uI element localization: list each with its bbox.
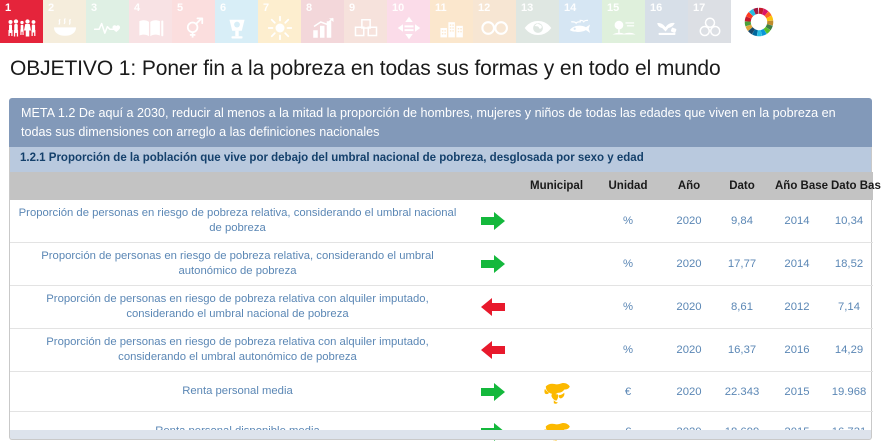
sdg-goal-tile-3[interactable]: 3	[86, 0, 129, 43]
ano-base-value: 2015	[769, 372, 825, 412]
column-header-ano-base: Año Base	[769, 172, 825, 200]
table-footer-bar	[9, 430, 872, 440]
ano-value: 2020	[663, 200, 715, 243]
sdg-goal-number: 11	[435, 2, 447, 14]
sdg-goal-number: 17	[693, 2, 705, 14]
unidad-value: %	[593, 329, 663, 372]
unidad-value: %	[593, 243, 663, 286]
column-header-trend	[465, 172, 520, 200]
municipal-cell-empty	[520, 243, 593, 286]
sdg-goal-number: 1	[5, 2, 11, 14]
sdg-goal-number: 5	[177, 2, 183, 14]
unidad-value: €	[593, 372, 663, 412]
sdg-goal-tile-13[interactable]: 13	[516, 0, 559, 43]
sdg-goal-tile-15[interactable]: 15	[602, 0, 645, 43]
indicator-name-link[interactable]: Proporción de personas en riesgo de pobr…	[10, 200, 465, 243]
column-header-municipal: Municipal	[520, 172, 593, 200]
arrow-left-red-icon	[465, 329, 520, 372]
sdg-goal-tile-14[interactable]: 14	[559, 0, 602, 43]
dato-base-value: 19.968	[825, 372, 873, 412]
infinity-loop-icon	[473, 15, 516, 41]
sdg-goal-tile-8[interactable]: 8	[301, 0, 344, 43]
indicator-name-link[interactable]: Renta personal media	[10, 372, 465, 412]
arrow-right-green-icon	[465, 372, 520, 412]
ano-base-value: 2014	[769, 200, 825, 243]
ano-base-value: 2014	[769, 243, 825, 286]
page-title: OBJETIVO 1: Poner fin a la pobreza en to…	[10, 55, 870, 83]
bowl-steam-icon	[43, 15, 86, 41]
fish-water-icon	[559, 15, 602, 41]
people-family-icon	[0, 15, 43, 41]
tree-land-icon	[602, 15, 645, 41]
dato-value: 8,61	[715, 286, 769, 329]
peace-dove-gavel-icon	[645, 15, 688, 41]
sdg-goal-number: 7	[263, 2, 269, 14]
table-row[interactable]: Proporción de personas en riesgo de pobr…	[10, 200, 873, 243]
sdg-goal-tile-7[interactable]: 7	[258, 0, 301, 43]
sdg-goal-tile-4[interactable]: 4	[129, 0, 172, 43]
arrow-right-green-icon	[465, 243, 520, 286]
column-header-name	[10, 172, 465, 200]
sdg-goal-tile-1[interactable]: 1	[0, 0, 43, 43]
dato-value: 16,37	[715, 329, 769, 372]
equals-arrows-icon	[387, 15, 430, 41]
partnership-circles-icon	[688, 15, 731, 41]
municipal-cell-empty	[520, 329, 593, 372]
column-header-ano: Año	[663, 172, 715, 200]
euskadi-map-icon[interactable]	[520, 372, 593, 412]
indicator-name-link[interactable]: Proporción de personas en riesgo de pobr…	[10, 243, 465, 286]
dato-base-value: 10,34	[825, 200, 873, 243]
sun-energy-icon	[258, 15, 301, 41]
ano-value: 2020	[663, 286, 715, 329]
dato-value: 9,84	[715, 200, 769, 243]
table-body: Proporción de personas en riesgo de pobr…	[10, 200, 873, 441]
table-row[interactable]: Renta personal media€202022.343201519.96…	[10, 372, 873, 412]
ano-value: 2020	[663, 372, 715, 412]
meta-description: META 1.2 De aquí a 2030, reducir al meno…	[9, 98, 872, 147]
table-row[interactable]: Proporción de personas en riesgo de pobr…	[10, 286, 873, 329]
sdg-goal-number: 16	[650, 2, 662, 14]
city-buildings-icon	[430, 15, 473, 41]
sdg-goal-tile-10[interactable]: 10	[387, 0, 430, 43]
sdg-goal-number: 4	[134, 2, 140, 14]
column-header-dato-base: Dato Base	[825, 172, 873, 200]
sdg-indicator-page: 1234567891011121314151617	[0, 0, 881, 441]
arrow-left-red-icon	[465, 286, 520, 329]
ano-base-value: 2012	[769, 286, 825, 329]
sdg-goal-tile-17[interactable]: 17	[688, 0, 731, 43]
unidad-value: %	[593, 200, 663, 243]
indicator-title: 1.2.1 Proporción de la población que viv…	[9, 147, 872, 172]
sdg-goal-strip: 1234567891011121314151617	[0, 0, 881, 45]
indicator-name-link[interactable]: Proporción de personas en riesgo de pobr…	[10, 286, 465, 329]
table-header-row: Municipal Unidad Año Dato Año Base Dato …	[10, 172, 873, 200]
sdg-goal-tile-6[interactable]: 6	[215, 0, 258, 43]
municipal-cell-empty	[520, 286, 593, 329]
indicator-name-link[interactable]: Proporción de personas en riesgo de pobr…	[10, 329, 465, 372]
gender-equality-icon	[172, 15, 215, 41]
arrow-right-green-icon	[465, 200, 520, 243]
dato-value: 17,77	[715, 243, 769, 286]
table-row[interactable]: Proporción de personas en riesgo de pobr…	[10, 243, 873, 286]
ano-base-value: 2016	[769, 329, 825, 372]
dato-base-value: 18,52	[825, 243, 873, 286]
ano-value: 2020	[663, 243, 715, 286]
heartbeat-icon	[86, 15, 129, 41]
column-header-unidad: Unidad	[593, 172, 663, 200]
sdg-goal-number: 6	[220, 2, 226, 14]
water-drop-glass-icon	[215, 15, 258, 41]
sdg-goal-tile-16[interactable]: 16	[645, 0, 688, 43]
column-header-dato: Dato	[715, 172, 769, 200]
sdg-goal-number: 12	[478, 2, 490, 14]
sdg-goal-number: 15	[607, 2, 619, 14]
industry-cubes-icon	[344, 15, 387, 41]
sdg-goal-number: 8	[306, 2, 312, 14]
sdg-goal-number: 3	[91, 2, 97, 14]
sdg-goal-number: 9	[349, 2, 355, 14]
sdg-goal-tile-11[interactable]: 11	[430, 0, 473, 43]
sdg-goal-tile-2[interactable]: 2	[43, 0, 86, 43]
indicator-table: Municipal Unidad Año Dato Año Base Dato …	[10, 172, 873, 441]
growth-chart-icon	[301, 15, 344, 41]
municipal-cell-empty	[520, 200, 593, 243]
dato-base-value: 14,29	[825, 329, 873, 372]
sdg-goal-number: 2	[48, 2, 54, 14]
indicator-table-container: Municipal Unidad Año Dato Año Base Dato …	[9, 172, 872, 432]
climate-eye-globe-icon	[516, 15, 559, 41]
sdg-goal-number: 13	[521, 2, 533, 14]
sdg-goal-number: 10	[392, 2, 404, 14]
ano-value: 2020	[663, 329, 715, 372]
unidad-value: %	[593, 286, 663, 329]
open-book-icon	[129, 15, 172, 41]
table-row[interactable]: Proporción de personas en riesgo de pobr…	[10, 329, 873, 372]
dato-base-value: 7,14	[825, 286, 873, 329]
sdg-goal-number: 14	[564, 2, 576, 14]
dato-value: 22.343	[715, 372, 769, 412]
sdg-goal-tile-12[interactable]: 12	[473, 0, 516, 43]
sdg-color-wheel-icon[interactable]	[735, 0, 783, 43]
sdg-goal-tile-5[interactable]: 5	[172, 0, 215, 43]
sdg-goal-tile-9[interactable]: 9	[344, 0, 387, 43]
